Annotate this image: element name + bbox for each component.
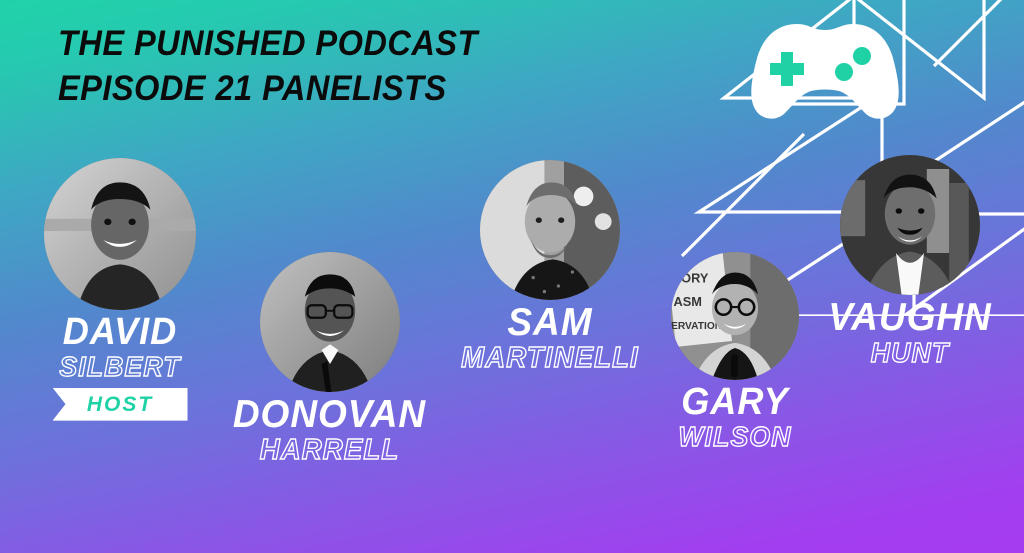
podcast-panelist-graphic: THE PUNISHED PODCAST EPISODE 21 PANELIST… xyxy=(0,0,1024,553)
first-name: DONOVAN xyxy=(227,396,431,434)
avatar xyxy=(260,252,400,392)
last-name: MARTINELLI xyxy=(455,344,645,372)
title-line-1: THE PUNISHED PODCAST xyxy=(58,22,478,67)
avatar xyxy=(480,160,620,300)
photo-sign-text: ASM xyxy=(674,294,702,309)
photo-sign-text: TORY xyxy=(674,271,709,286)
panelist-names: DONOVAN HARRELL xyxy=(222,396,437,465)
last-name: HARRELL xyxy=(227,436,431,464)
avatar: TORY ASM ERVATION xyxy=(671,252,799,380)
first-name: DAVID xyxy=(25,314,215,351)
host-label: HOST xyxy=(53,388,188,421)
title-line-2: EPISODE 21 PANELISTS xyxy=(58,67,478,112)
last-name: WILSON xyxy=(650,423,821,450)
first-name: GARY xyxy=(650,384,821,421)
panelist-names: DAVID SILBERT xyxy=(20,314,220,381)
last-name: HUNT xyxy=(815,339,1005,366)
panelist-card-sam: SAM MARTINELLI xyxy=(450,160,650,373)
panelist-card-gary: TORY ASM ERVATION GARY WILSON xyxy=(645,252,825,451)
panelist-card-donovan: DONOVAN HARRELL xyxy=(222,252,437,465)
first-name: VAUGHN xyxy=(815,299,1005,337)
first-name: SAM xyxy=(455,304,645,342)
host-ribbon: HOST xyxy=(53,388,188,421)
panelist-names: GARY WILSON xyxy=(645,384,825,451)
avatar xyxy=(840,155,980,295)
panelist-card-vaughn: VAUGHN HUNT xyxy=(810,155,1010,367)
panelist-names: SAM MARTINELLI xyxy=(450,304,650,373)
panelist-names: VAUGHN HUNT xyxy=(810,299,1010,367)
photo-sign-text: ERVATION xyxy=(671,321,722,332)
panelist-card-david: DAVID SILBERT HOST xyxy=(20,158,220,421)
avatar xyxy=(44,158,196,310)
gamepad-icon xyxy=(745,14,905,124)
page-title: THE PUNISHED PODCAST EPISODE 21 PANELIST… xyxy=(58,22,509,112)
last-name: SILBERT xyxy=(25,353,215,380)
